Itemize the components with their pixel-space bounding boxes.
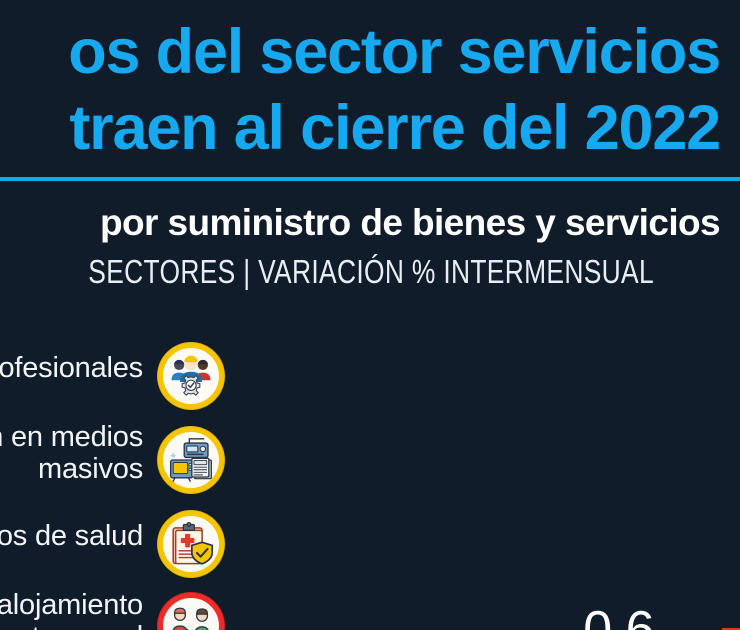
professionals-team-gear-icon bbox=[158, 343, 224, 409]
page-title-line-2: traen al cierre del 2022 bbox=[0, 90, 720, 166]
subtitle-block: por suministro de bienes y servicios SEC… bbox=[0, 196, 740, 306]
sector-row-servicios-profesionales: rofesionales bbox=[0, 338, 740, 422]
sector-row-alojamiento-temporal: alojamiento temporal bbox=[0, 588, 740, 630]
mass-media-radio-tv-newspaper-icon bbox=[158, 427, 224, 493]
infographic-canvas: os del sector servicios traen al cierre … bbox=[0, 0, 740, 630]
health-clipboard-shield-icon bbox=[158, 511, 224, 577]
sector-label: n en medios masivos bbox=[0, 421, 143, 485]
headline-block: os del sector servicios traen al cierre … bbox=[0, 0, 740, 178]
sector-rows: rofesionales bbox=[0, 330, 740, 630]
sector-value: -0.6 bbox=[474, 602, 654, 630]
sector-row-servicios-de-salud: ios de salud bbox=[0, 506, 740, 590]
page-title-line-1: os del sector servicios bbox=[0, 14, 720, 90]
hotel-reception-desk-icon bbox=[158, 593, 224, 630]
subtitle-axis-legend: SECTORES | VARIACIÓN % INTERMENSUAL bbox=[0, 253, 654, 291]
subtitle-primary: por suministro de bienes y servicios bbox=[0, 200, 720, 246]
header-divider bbox=[0, 177, 740, 181]
sector-label: alojamiento temporal bbox=[0, 589, 143, 630]
sector-label: ios de salud bbox=[0, 520, 143, 552]
sector-row-informacion-medios-masivos: n en medios masivos bbox=[0, 422, 740, 506]
sector-label: rofesionales bbox=[0, 352, 143, 384]
page-title: os del sector servicios traen al cierre … bbox=[0, 14, 720, 166]
